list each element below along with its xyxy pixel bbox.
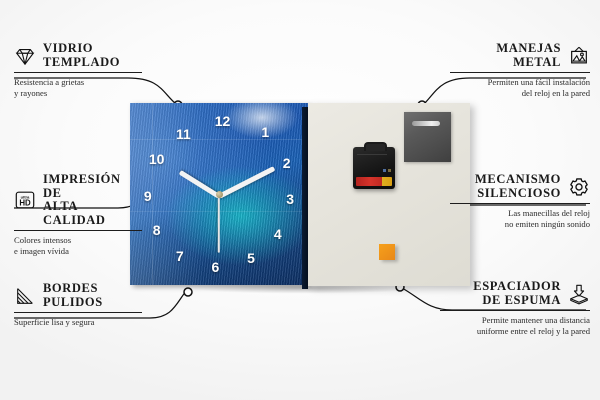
hanging-picture-icon (568, 45, 590, 67)
feature-foam-spacer: ESPACIADOR DE ESPUMA Permite mantener un… (440, 280, 590, 337)
clock-numeral-11: 11 (176, 127, 191, 141)
clock-center-cap (216, 191, 223, 198)
feature-metal-handles: MANEJAS METAL Permiten una fácil instala… (450, 42, 590, 99)
clock-numeral-6: 6 (212, 260, 220, 274)
press-down-pad-icon (568, 283, 590, 305)
feature-subtitle: Colores intensos e imagen vívida (14, 235, 142, 257)
feature-title: MECANISMO SILENCIOSO (475, 173, 561, 200)
feature-silent-mechanism: MECANISMO SILENCIOSO Las manecillas del … (450, 173, 590, 230)
feature-rule (14, 72, 142, 73)
feature-high-quality-print: ultra HD IMPRESIÓN DE ALTA CALIDAD Color… (14, 173, 142, 257)
feature-rule (450, 203, 590, 204)
feature-subtitle: Superficie lisa y segura (14, 317, 142, 328)
feature-rule (14, 230, 142, 231)
feature-title: VIDRIO TEMPLADO (43, 42, 120, 69)
clock-numeral-8: 8 (153, 223, 161, 237)
hanger-slot (412, 121, 440, 126)
feature-rule (440, 310, 590, 311)
metal-hanger-plate (404, 112, 451, 162)
clock-second-hand (218, 195, 220, 253)
clock-front-face: 12 1 2 3 4 5 6 7 8 9 10 11 (130, 103, 308, 285)
product-photo: 12 1 2 3 4 5 6 7 8 9 10 11 (130, 103, 470, 288)
mechanism-handle (364, 142, 387, 151)
feature-title: ESPACIADOR DE ESPUMA (473, 280, 561, 307)
feature-title: BORDES PULIDOS (43, 282, 103, 309)
clock-numeral-4: 4 (274, 227, 282, 241)
ultra-hd-icon: ultra HD (14, 189, 36, 211)
clock-numeral-2: 2 (283, 156, 291, 170)
foam-spacer-pad (379, 244, 395, 260)
feature-subtitle: Resistencia a grietas y rayones (14, 77, 142, 99)
polished-edges-icon (14, 285, 36, 307)
feature-rule (14, 312, 142, 313)
clock-back-panel (308, 103, 470, 286)
feature-subtitle: Las manecillas del reloj no emiten ningú… (450, 208, 590, 230)
infographic-canvas: 12 1 2 3 4 5 6 7 8 9 10 11 (0, 0, 600, 400)
clock-numeral-9: 9 (144, 189, 152, 203)
gear-icon (568, 176, 590, 198)
mechanism-seam (357, 154, 387, 155)
clock-numeral-3: 3 (286, 192, 294, 206)
clock-numeral-7: 7 (176, 249, 184, 263)
clock-numeral-5: 5 (247, 251, 255, 265)
feature-tempered-glass: VIDRIO TEMPLADO Resistencia a grietas y … (14, 42, 142, 99)
feature-rule (450, 72, 590, 73)
feature-title: IMPRESIÓN DE ALTA CALIDAD (43, 173, 142, 227)
quartz-mechanism (353, 147, 395, 189)
feature-polished-edges: BORDES PULIDOS Superficie lisa y segura (14, 282, 142, 328)
feature-subtitle: Permite mantener una distancia uniforme … (440, 315, 590, 337)
battery (356, 177, 392, 186)
mechanism-contacts (383, 169, 391, 172)
clock-numeral-10: 10 (149, 152, 165, 166)
diamond-icon (14, 45, 36, 67)
feature-subtitle: Permiten una fácil instalación del reloj… (450, 77, 590, 99)
feature-title: MANEJAS METAL (496, 42, 561, 69)
ultra-hd-icon-large-text: HD (19, 199, 31, 208)
clock-numeral-1: 1 (261, 125, 269, 139)
clock-numeral-12: 12 (215, 114, 231, 128)
